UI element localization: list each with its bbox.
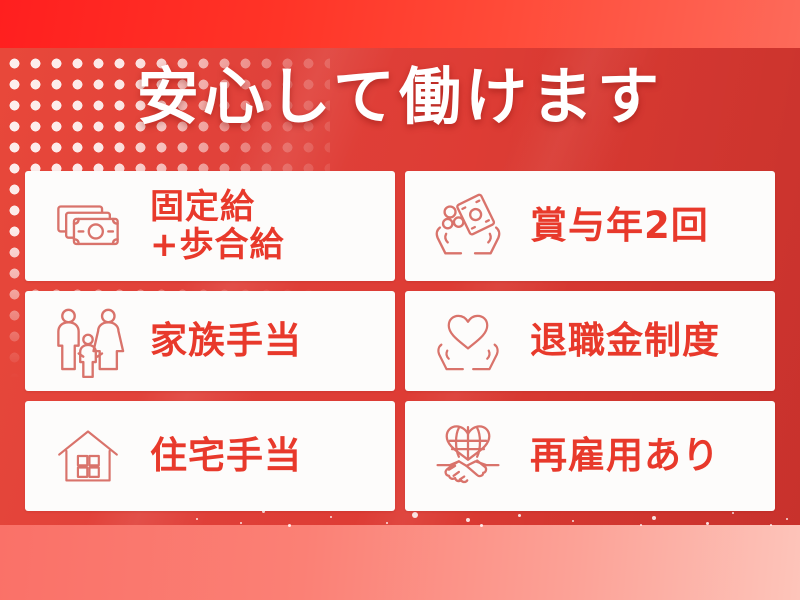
globe-handshake-icon [405, 418, 530, 494]
family-icon [25, 302, 150, 380]
hands-with-money-icon [405, 187, 530, 265]
benefit-label: 再雇用あり [530, 437, 775, 475]
benefit-label: 住宅手当 [150, 437, 395, 475]
benefit-card-reemployment-available[interactable]: 再雇用あり [405, 401, 775, 511]
banknotes-stack-icon [25, 187, 150, 265]
benefit-label: 固定給 +歩合給 [150, 188, 395, 264]
benefit-card-housing-allowance[interactable]: 住宅手当 [25, 401, 395, 511]
benefit-card-retirement-allowance[interactable]: 退職金制度 [405, 291, 775, 391]
bottom-pink-band [0, 525, 800, 600]
top-red-band [0, 0, 800, 48]
benefit-card-bonus-twice-a-year[interactable]: 賞与年2回 [405, 171, 775, 281]
page-title: 安心して働けます [0, 66, 800, 128]
benefits-grid: 固定給 +歩合給賞与年2回家族手当退職金制度住宅手当再雇用あり [25, 171, 775, 511]
benefit-label: 退職金制度 [530, 322, 775, 360]
benefits-poster: 安心して働けます 固定給 +歩合給賞与年2回家族手当退職金制度住宅手当再雇用あり [0, 0, 800, 600]
house-icon [25, 420, 150, 492]
benefit-label: 家族手当 [150, 322, 395, 360]
benefit-label: 賞与年2回 [530, 207, 775, 245]
benefit-card-fixed-plus-commission[interactable]: 固定給 +歩合給 [25, 171, 395, 281]
hands-with-heart-icon [405, 304, 530, 378]
benefit-card-family-allowance[interactable]: 家族手当 [25, 291, 395, 391]
